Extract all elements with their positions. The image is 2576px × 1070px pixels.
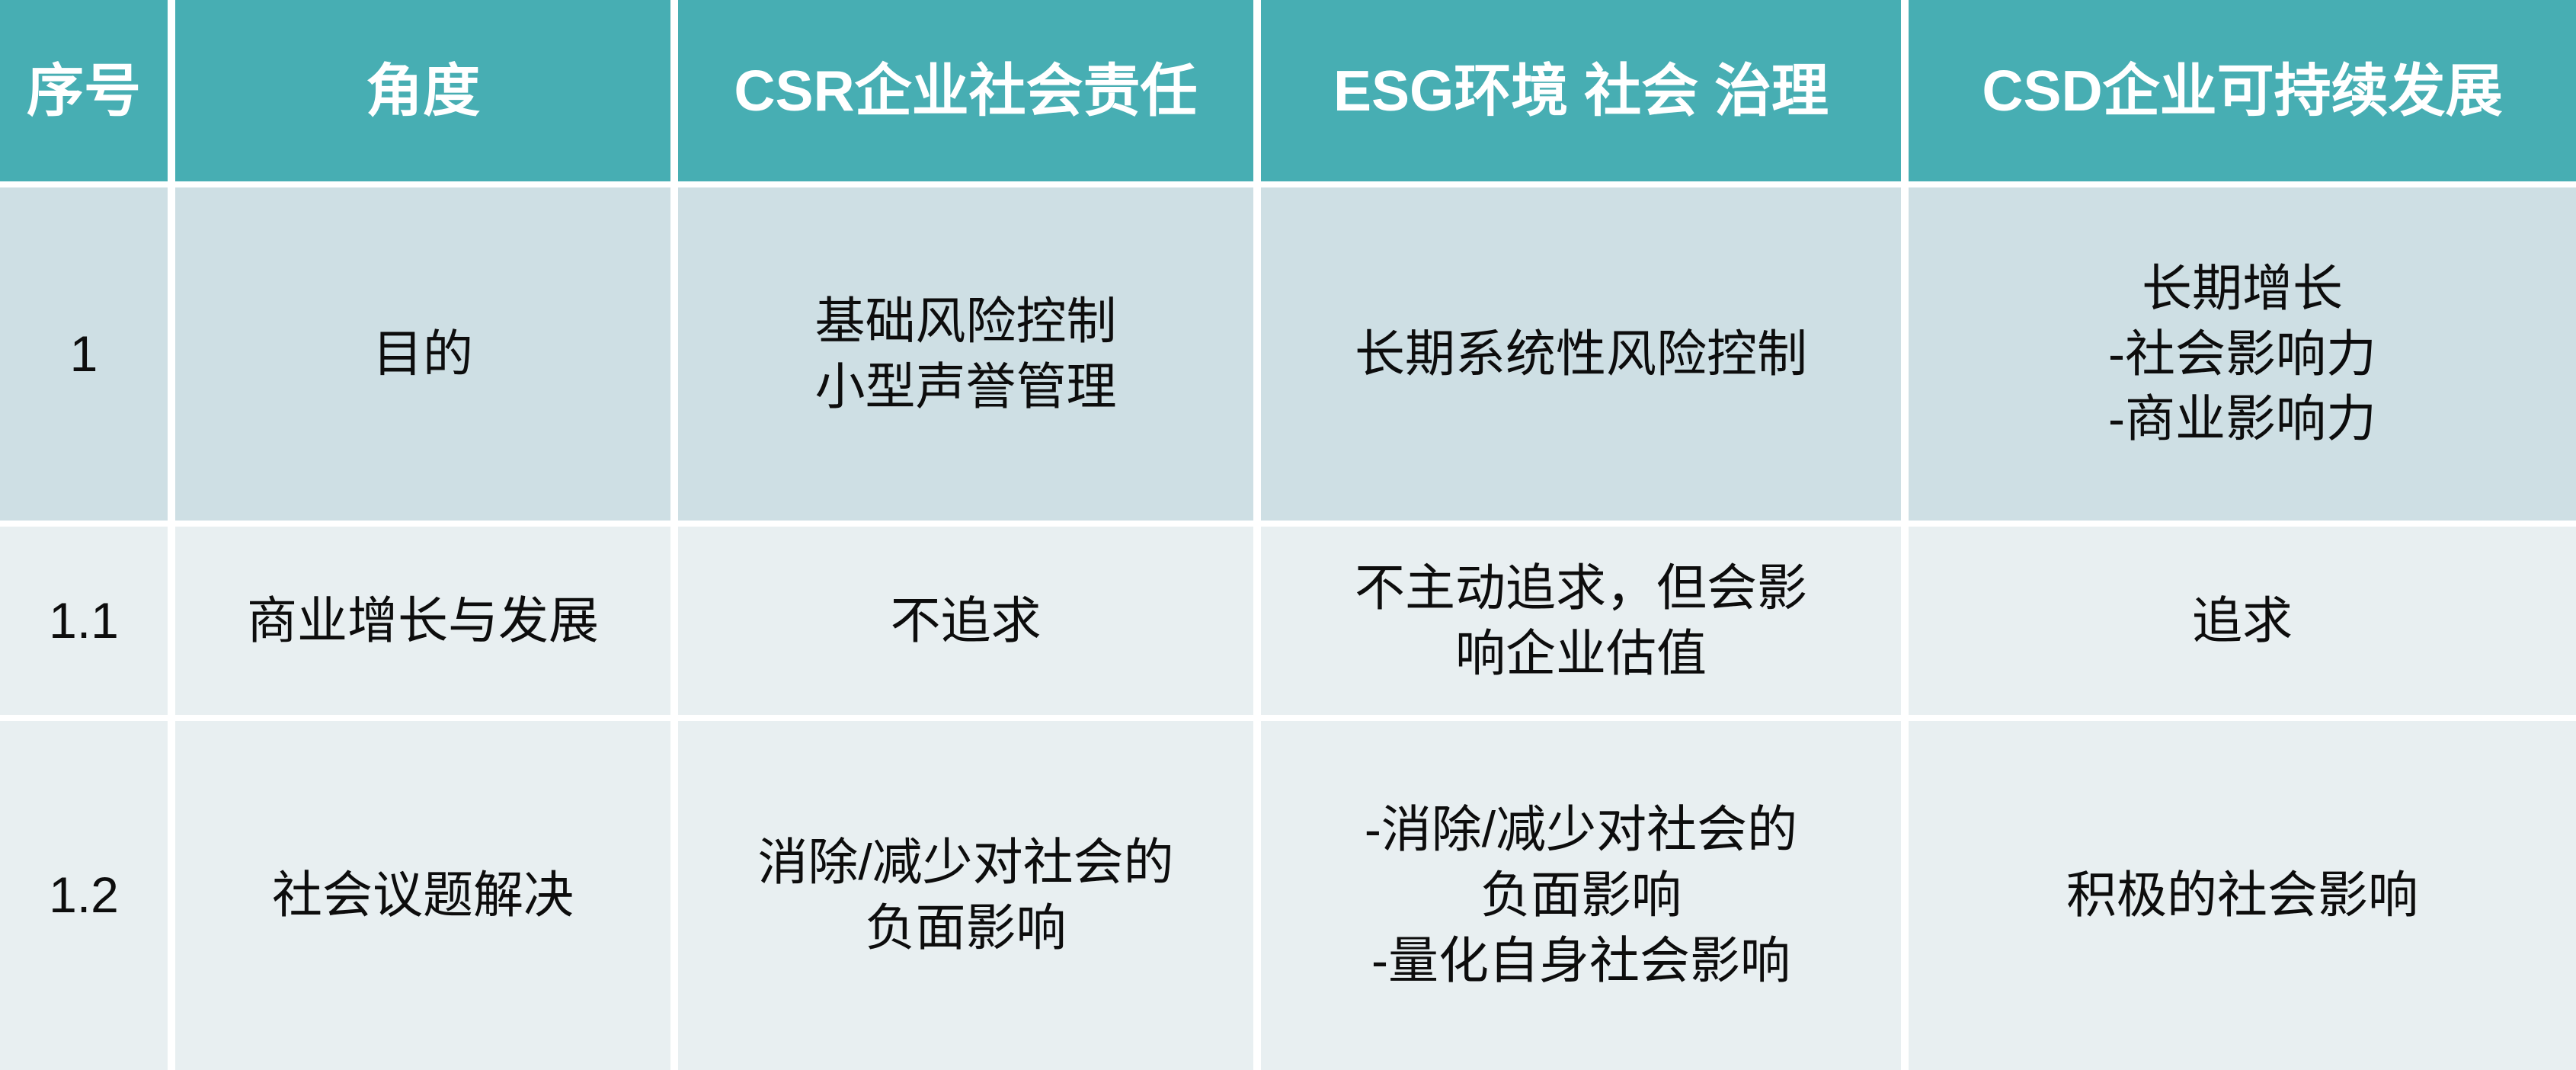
column-header-index: 序号 [0, 0, 175, 187]
cell-esg: 长期系统性风险控制 [1261, 187, 1909, 527]
cell-index: 1.1 [0, 527, 175, 721]
cell-text-line: 长期系统性风险控制 [1272, 322, 1890, 387]
cell-text-line: 负面影响 [689, 895, 1243, 961]
cell-csr: 不追求 [678, 527, 1261, 721]
cell-text-line: 小型声誉管理 [689, 354, 1243, 420]
table-body: 1 目的 基础风险控制 小型声誉管理 长期系统性风险控制 长期增长 [0, 187, 2576, 1070]
cell-text-line: -社会影响力 [1919, 322, 2565, 387]
cell-aspect: 社会议题解决 [175, 721, 678, 1070]
cell-esg: 不主动追求，但会影 响企业估值 [1261, 527, 1909, 721]
cell-esg: -消除/减少对社会的 负面影响 -量化自身社会影响 [1261, 721, 1909, 1070]
cell-text-line: 基础风险控制 [689, 289, 1243, 354]
cell-text-line: 追求 [1919, 588, 2565, 654]
cell-csd: 积极的社会影响 [1909, 721, 2576, 1070]
cell-aspect: 商业增长与发展 [175, 527, 678, 721]
table-row: 1 目的 基础风险控制 小型声誉管理 长期系统性风险控制 长期增长 [0, 187, 2576, 527]
table-row: 1.1 商业增长与发展 不追求 不主动追求，但会影 响企业估值 追求 [0, 527, 2576, 721]
column-header-esg: ESG环境 社会 治理 [1261, 0, 1909, 187]
cell-index: 1.2 [0, 721, 175, 1070]
cell-text-line: 长期增长 [1919, 256, 2565, 322]
cell-text-line: 不主动追求，但会影 [1272, 556, 1890, 621]
comparison-table-container: 序号 角度 CSR企业社会责任 ESG环境 社会 治理 CSD企业可持续发展 1… [0, 0, 2576, 1012]
column-header-csd: CSD企业可持续发展 [1909, 0, 2576, 187]
cell-text-line: 负面影响 [1272, 863, 1890, 928]
cell-text-line: 消除/减少对社会的 [689, 830, 1243, 895]
cell-csr: 消除/减少对社会的 负面影响 [678, 721, 1261, 1070]
cell-text-line: 响企业估值 [1272, 621, 1890, 687]
table-row: 1.2 社会议题解决 消除/减少对社会的 负面影响 -消除/减少对社会的 负面影… [0, 721, 2576, 1070]
column-header-csr: CSR企业社会责任 [678, 0, 1261, 187]
csr-esg-csd-comparison-table: 序号 角度 CSR企业社会责任 ESG环境 社会 治理 CSD企业可持续发展 1… [0, 0, 2576, 1070]
cell-csd: 长期增长 -社会影响力 -商业影响力 [1909, 187, 2576, 527]
cell-csr: 基础风险控制 小型声誉管理 [678, 187, 1261, 527]
table-header-row: 序号 角度 CSR企业社会责任 ESG环境 社会 治理 CSD企业可持续发展 [0, 0, 2576, 187]
cell-index: 1 [0, 187, 175, 527]
cell-text-line: 不追求 [689, 588, 1243, 654]
cell-text-line: -消除/减少对社会的 [1272, 797, 1890, 863]
cell-csd: 追求 [1909, 527, 2576, 721]
column-header-aspect: 角度 [175, 0, 678, 187]
table-header: 序号 角度 CSR企业社会责任 ESG环境 社会 治理 CSD企业可持续发展 [0, 0, 2576, 187]
cell-text-line: -商业影响力 [1919, 386, 2565, 452]
cell-text-line: 积极的社会影响 [1919, 863, 2565, 928]
cell-text-line: -量化自身社会影响 [1272, 928, 1890, 994]
cell-aspect: 目的 [175, 187, 678, 527]
